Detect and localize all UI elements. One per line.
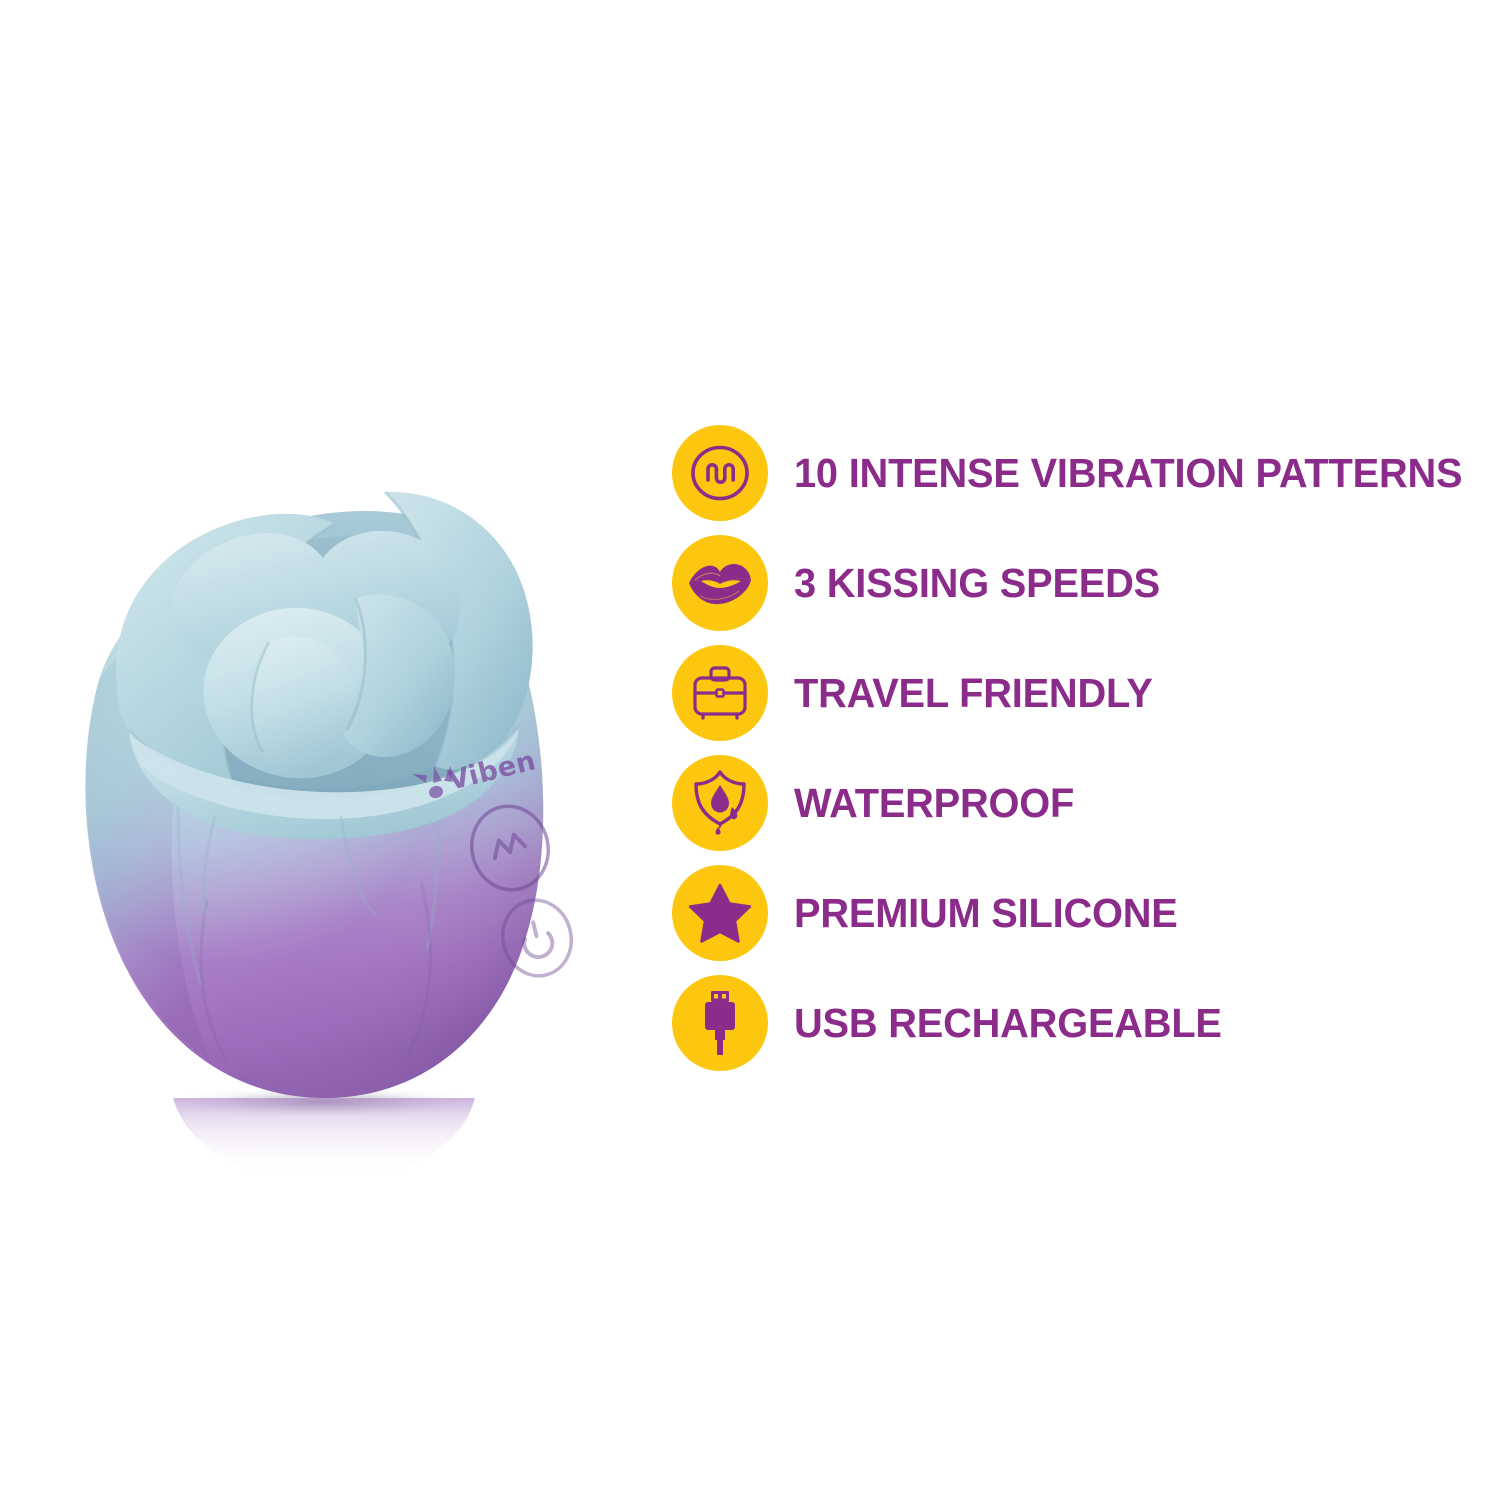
feature-row-usb-rechargeable: USB RECHARGEABLE — [672, 968, 1472, 1078]
usb-plug-icon — [699, 989, 741, 1057]
product-image-panel: Viben — [55, 430, 615, 1210]
feature-list: 10 INTENSE VIBRATION PATTERNS 3 KISSING … — [672, 418, 1472, 1078]
product-feature-graphic: Viben — [0, 0, 1500, 1500]
feature-badge — [672, 755, 768, 851]
lips-icon — [687, 558, 753, 608]
star-icon — [688, 882, 752, 944]
feature-row-travel-friendly: TRAVEL FRIENDLY — [672, 638, 1472, 748]
feature-label: WATERPROOF — [794, 783, 1074, 824]
feature-label: 3 KISSING SPEEDS — [794, 563, 1160, 604]
feature-badge — [672, 425, 768, 521]
feature-row-vibration-patterns: 10 INTENSE VIBRATION PATTERNS — [672, 418, 1472, 528]
shield-droplet-icon — [691, 769, 749, 837]
feature-row-kissing-speeds: 3 KISSING SPEEDS — [672, 528, 1472, 638]
feature-row-waterproof: WATERPROOF — [672, 748, 1472, 858]
feature-label: TRAVEL FRIENDLY — [794, 673, 1153, 714]
feature-label: PREMIUM SILICONE — [794, 893, 1178, 934]
product-reflection — [163, 1086, 483, 1182]
feature-badge — [672, 645, 768, 741]
feature-badge — [672, 535, 768, 631]
feature-row-premium-silicone: PREMIUM SILICONE — [672, 858, 1472, 968]
vibration-circle-icon — [689, 442, 751, 504]
feature-label: 10 INTENSE VIBRATION PATTERNS — [794, 453, 1462, 494]
suitcase-icon — [690, 664, 750, 722]
feature-badge — [672, 865, 768, 961]
rose-vibrator-illustration: Viben — [55, 430, 615, 1210]
feature-label: USB RECHARGEABLE — [794, 1003, 1222, 1044]
feature-badge — [672, 975, 768, 1071]
